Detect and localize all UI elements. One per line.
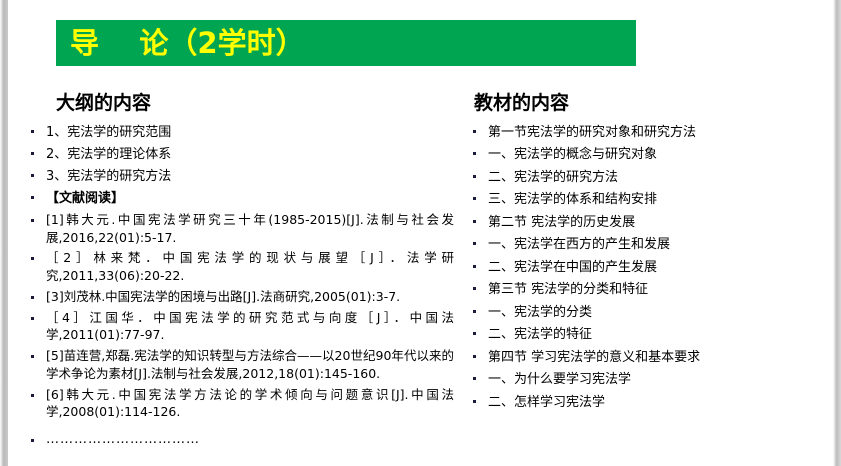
outline-list-item: 2、宪法学的理论体系	[22, 144, 454, 165]
outline-list: 1、宪法学的研究范围2、宪法学的理论体系3、宪法学的研究方法【文献阅读】[1]韩…	[22, 122, 454, 450]
outline-list-item: 1、宪法学的研究范围	[22, 122, 454, 143]
textbook-list-item: 一、宪法学在西方的产生和发展	[464, 234, 824, 256]
textbook-list-item: 一、宪法学的分类	[464, 302, 824, 324]
outline-list-item: ［2］林来梵．中国宪法学的现状与展望［J］．法学研究,2011,33(06):2…	[22, 249, 454, 285]
textbook-list-item: 第一节宪法学的研究对象和研究方法	[464, 122, 824, 144]
textbook-list-item: 第四节 学习宪法学的意义和基本要求	[464, 347, 824, 369]
textbook-list-item: 一、为什么要学习宪法学	[464, 369, 824, 391]
outline-list-item: ［4］江国华．中国宪法学的研究范式与向度［J］．中国法学,2011(01):77…	[22, 309, 454, 345]
outline-list-item: 3、宪法学的研究方法	[22, 166, 454, 187]
slide-canvas: 导 论（2学时） 大纲的内容 1、宪法学的研究范围2、宪法学的理论体系3、宪法学…	[8, 0, 833, 466]
textbook-list: 第一节宪法学的研究对象和研究方法一、宪法学的概念与研究对象二、宪法学的研究方法三…	[464, 122, 824, 414]
outline-list-item: [3]刘茂林.中国宪法学的困境与出路[J].法商研究,2005(01):3-7.	[22, 288, 454, 306]
outline-list-item: [1]韩大元.中国宪法学研究三十年(1985-2015)[J].法制与社会发展,…	[22, 211, 454, 247]
left-edge-scroll-strip[interactable]	[0, 0, 8, 466]
slide-viewport: 导 论（2学时） 大纲的内容 1、宪法学的研究范围2、宪法学的理论体系3、宪法学…	[0, 0, 841, 466]
textbook-list-item: 第三节 宪法学的分类和特征	[464, 279, 824, 301]
textbook-column: 教材的内容 第一节宪法学的研究对象和研究方法一、宪法学的概念与研究对象二、宪法学…	[464, 92, 824, 414]
outline-column: 大纲的内容 1、宪法学的研究范围2、宪法学的理论体系3、宪法学的研究方法【文献阅…	[22, 92, 454, 451]
slide-title-banner: 导 论（2学时）	[56, 20, 636, 66]
textbook-list-item: 第二节 宪法学的历史发展	[464, 212, 824, 234]
outline-list-item: [5]苗连营,郑磊.宪法学的知识转型与方法综合——以20世纪90年代以来的学术争…	[22, 347, 454, 383]
textbook-list-item: 二、怎样学习宪法学	[464, 392, 824, 414]
textbook-list-item: 三、宪法学的体系和结构安排	[464, 189, 824, 211]
textbook-list-item: 二、宪法学的研究方法	[464, 167, 824, 189]
slide-title: 导 论（2学时）	[56, 29, 305, 58]
outline-list-item: ……………………………	[22, 431, 454, 449]
textbook-column-heading: 教材的内容	[464, 92, 824, 116]
outline-list-item: [6]韩大元.中国宪法学方法论的学术倾向与问题意识[J].中国法学,2008(0…	[22, 386, 454, 422]
textbook-list-item: 一、宪法学的概念与研究对象	[464, 144, 824, 166]
right-edge-scroll-strip[interactable]	[833, 0, 841, 466]
textbook-list-item: 二、宪法学在中国的产生发展	[464, 257, 824, 279]
outline-column-heading: 大纲的内容	[22, 92, 454, 116]
textbook-list-item: 二、宪法学的特征	[464, 324, 824, 346]
outline-list-item: 【文献阅读】	[22, 188, 454, 210]
